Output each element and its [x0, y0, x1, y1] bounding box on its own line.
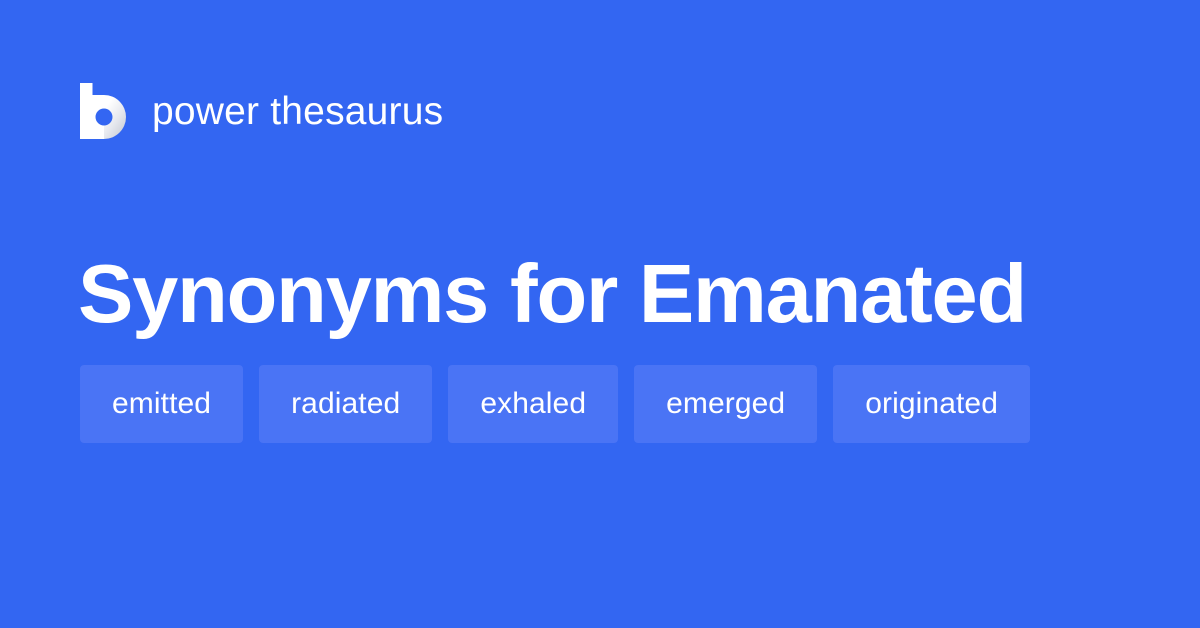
synonym-chip[interactable]: emerged: [634, 365, 817, 443]
page-title: Synonyms for Emanated: [78, 250, 1128, 337]
synonym-chip[interactable]: exhaled: [448, 365, 618, 443]
synonym-chip[interactable]: emitted: [80, 365, 243, 443]
share-card: Power Thesaurus Synonyms for Emanated em…: [0, 0, 1200, 628]
synonym-chip[interactable]: originated: [833, 365, 1030, 443]
brand-name: Power Thesaurus: [152, 92, 443, 131]
power-thesaurus-b-logo-icon: [80, 83, 126, 139]
synonym-chip-list: emitted radiated exhaled emerged origina…: [80, 365, 1140, 443]
synonym-chip[interactable]: radiated: [259, 365, 432, 443]
brand-header[interactable]: Power Thesaurus: [80, 80, 443, 142]
